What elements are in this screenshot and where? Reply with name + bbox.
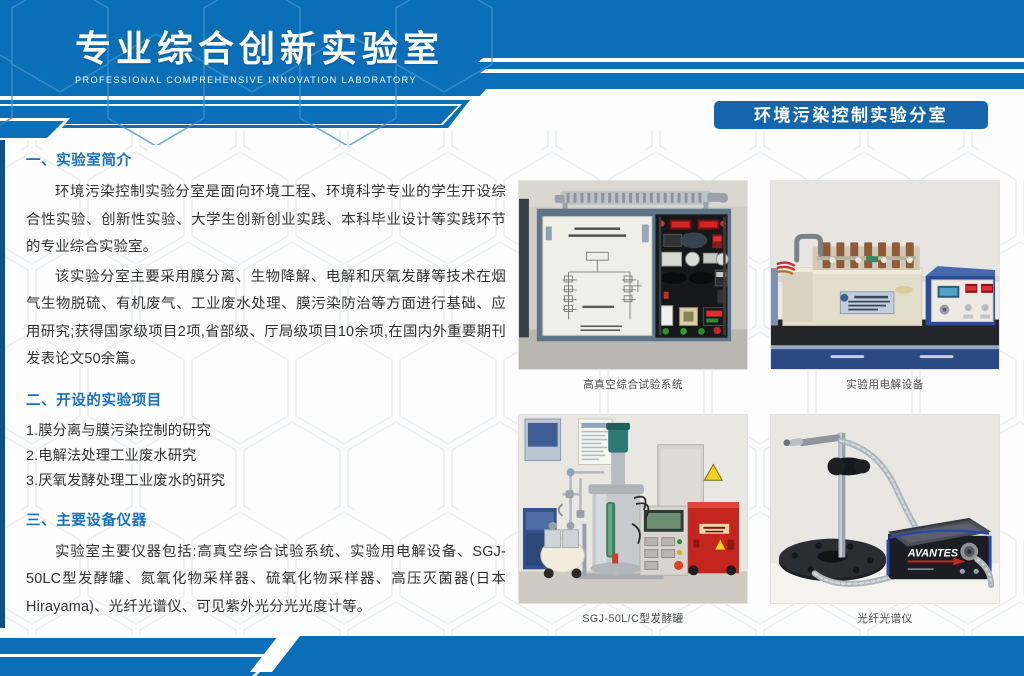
photo-high-vacuum-system	[518, 180, 748, 370]
section-heading-2: 二、开设的实验项目	[26, 392, 506, 410]
fermenter-illustration	[519, 415, 747, 603]
poster-page: 专业综合创新实验室 PROFESSIONAL COMPREHENSIVE INN…	[0, 0, 1024, 676]
experiment-project-list: 1.膜分离与膜污染控制的研究 2.电解法处理工业废水研究 3.厌氧发酵处理工业废…	[26, 419, 506, 494]
photo-caption: SGJ-50L/C型发酵罐	[518, 612, 748, 626]
left-accent-stripe	[0, 140, 5, 628]
badge-label: 环境污染控制实验分室	[754, 107, 948, 124]
photo-caption: 高真空综合试验系统	[518, 378, 748, 392]
brand-label-avantes: AVANTES	[907, 548, 959, 560]
page-header: 专业综合创新实验室 PROFESSIONAL COMPREHENSIVE INN…	[0, 0, 1024, 140]
list-item: 1.膜分离与膜污染控制的研究	[26, 419, 506, 444]
page-subtitle: PROFESSIONAL COMPREHENSIVE INNOVATION LA…	[75, 75, 444, 85]
section-heading-3: 三、主要设备仪器	[26, 512, 506, 530]
page-footer	[0, 628, 1024, 676]
photo-cell-vacuum-system: 高真空综合试验系统	[518, 180, 748, 392]
spectrometer-illustration: AVANTES	[771, 415, 999, 603]
photo-row-1: 高真空综合试验系统	[518, 180, 1000, 392]
photo-caption: 实验用电解设备	[770, 378, 1000, 392]
spacer	[26, 376, 506, 392]
section-3-paragraph-1: 实验室主要仪器包括:高真空综合试验系统、实验用电解设备、SGJ-50LC型发酵罐…	[26, 539, 506, 622]
section-1-paragraph-1: 环境污染控制实验分室是面向环境工程、环境科学专业的学生开设综合性实验、创新性实验…	[26, 179, 506, 262]
page-title: 专业综合创新实验室	[75, 27, 444, 71]
electrolysis-illustration	[771, 181, 999, 369]
photo-cell-electrolysis: 实验用电解设备	[770, 180, 1000, 392]
section-1-paragraph-2: 该实验分室主要采用膜分离、生物降解、电解和厌氧发酵等技术在烟气生物脱硫、有机废气…	[26, 264, 506, 374]
photo-cell-fermenter: SGJ-50L/C型发酵罐	[518, 414, 748, 626]
list-item: 3.厌氧发酵处理工业废水的研究	[26, 469, 506, 494]
spacer	[26, 494, 506, 512]
vacuum-system-illustration	[519, 181, 747, 369]
photo-cell-spectrometer: AVANTES	[770, 414, 1000, 626]
photo-fermenter	[518, 414, 748, 604]
title-block: 专业综合创新实验室 PROFESSIONAL COMPREHENSIVE INN…	[75, 27, 444, 85]
photo-electrolysis-equipment	[770, 180, 1000, 370]
photo-fiber-optic-spectrometer: AVANTES	[770, 414, 1000, 604]
photo-row-2: SGJ-50L/C型发酵罐	[518, 414, 1000, 626]
content-column: 一、实验室简介 环境污染控制实验分室是面向环境工程、环境科学专业的学生开设综合性…	[26, 152, 506, 623]
section-heading-1: 一、实验室简介	[26, 152, 506, 170]
photo-caption: 光纤光谱仪	[770, 612, 1000, 626]
list-item: 2.电解法处理工业废水研究	[26, 444, 506, 469]
photo-grid: 高真空综合试验系统	[518, 180, 1000, 626]
footer-shapes	[0, 628, 1024, 676]
status-badge: 环境污染控制实验分室	[712, 99, 990, 131]
